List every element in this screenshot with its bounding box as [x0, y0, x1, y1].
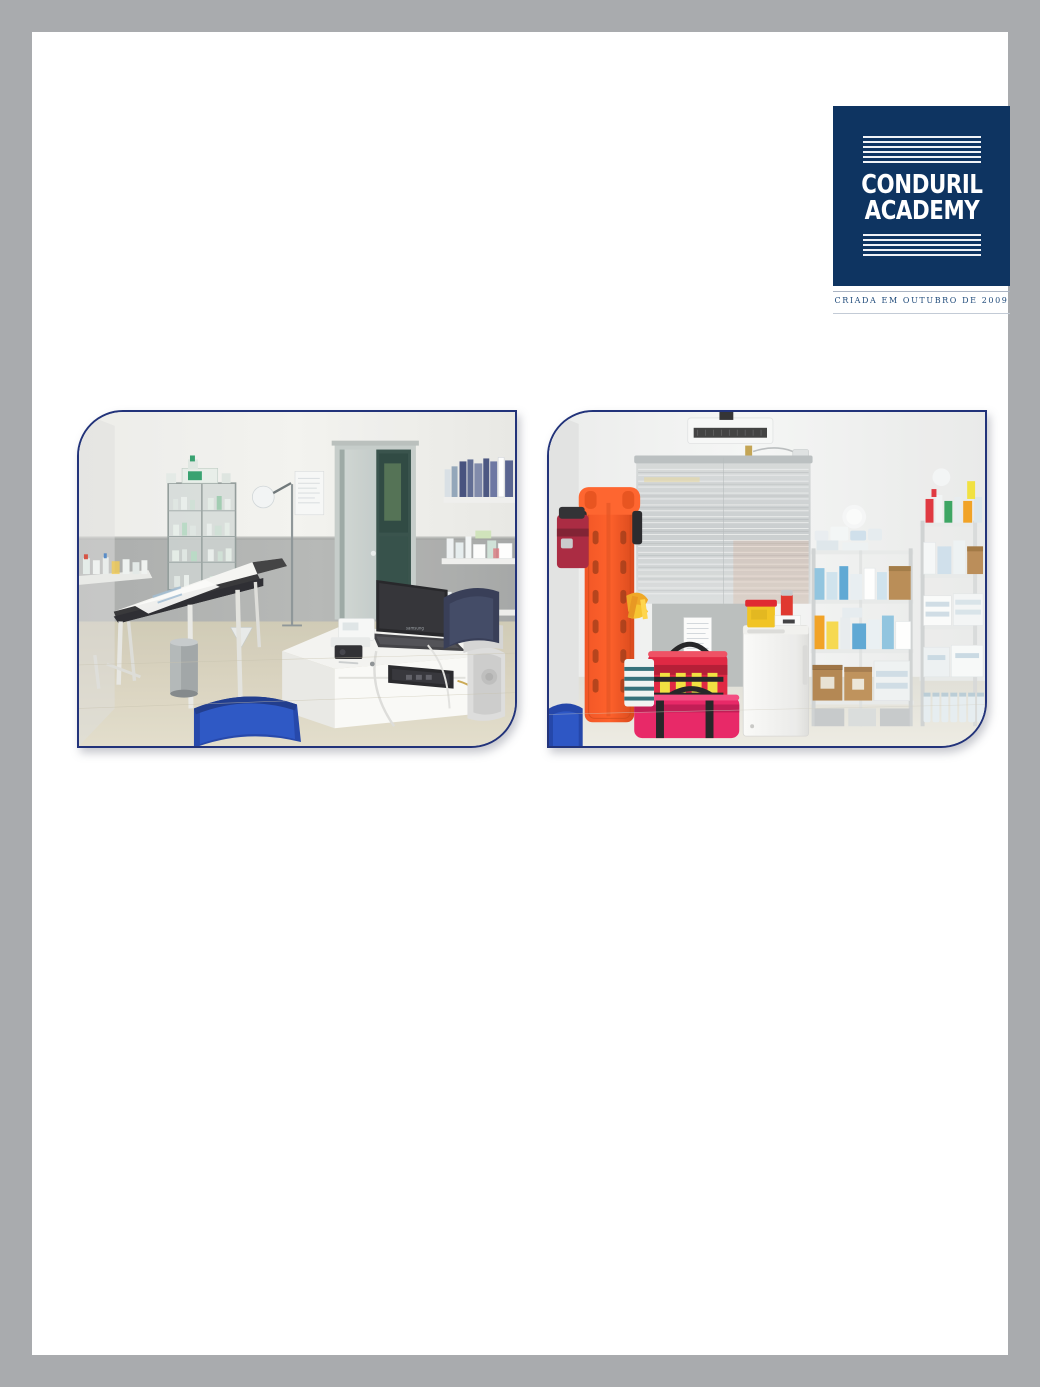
logo-stripes-bottom-icon: [863, 234, 981, 256]
logo-mark: CONDURIL ACADEMY: [833, 106, 1010, 286]
examination-room-illustration: samsung: [79, 412, 515, 746]
conduril-academy-logo: CONDURIL ACADEMY CRIADA EM OUTUBRO DE 20…: [800, 74, 980, 314]
photo-medical-supply-storage-room: [547, 410, 987, 748]
logo-divider-top: [833, 291, 1010, 292]
logo-line-2: ACADEMY: [861, 198, 982, 224]
logo-wordmark: CONDURIL ACADEMY: [861, 172, 982, 224]
logo-stripes-top-icon: [863, 136, 981, 163]
photo-gallery: samsung: [77, 410, 989, 762]
photo-medical-examination-room: samsung: [77, 410, 517, 748]
document-page: CONDURIL ACADEMY CRIADA EM OUTUBRO DE 20…: [32, 32, 1008, 1355]
logo-tagline: CRIADA EM OUTUBRO DE 2009: [833, 296, 1010, 305]
logo-divider-bottom: [833, 313, 1010, 314]
supply-room-illustration: [549, 412, 985, 746]
